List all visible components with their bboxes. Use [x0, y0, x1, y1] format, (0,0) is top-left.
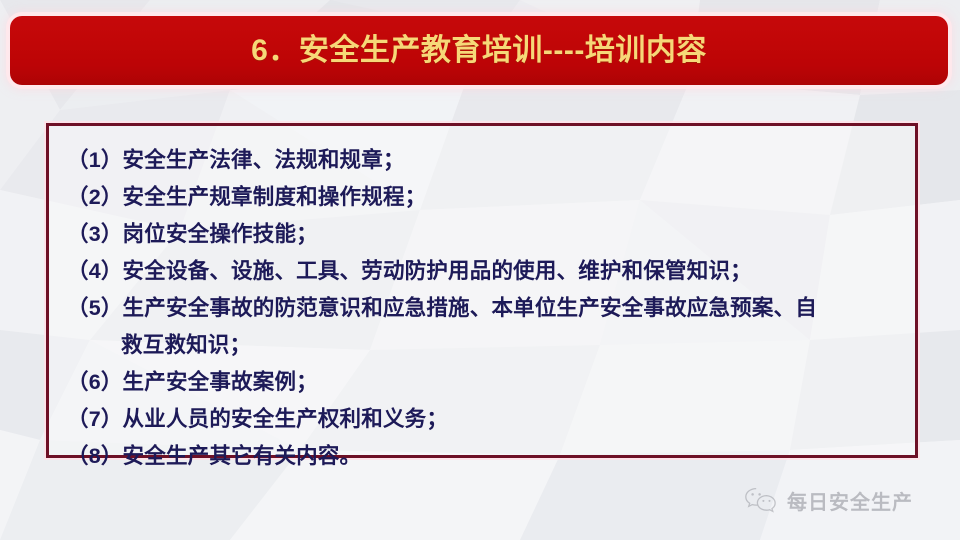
slide-title-banner: 6．安全生产教育培训----培训内容	[10, 16, 948, 85]
list-item-text: （1）安全生产法律、法规和规章；	[67, 148, 405, 172]
list-item-text: （6）生产安全事故案例；	[67, 370, 318, 394]
list-item-text: （2）安全生产规章制度和操作规程；	[67, 185, 426, 209]
list-item-text: （8）安全生产其它有关内容。	[67, 444, 361, 468]
list-item: （3）岗位安全操作技能；	[67, 216, 897, 253]
slide-canvas: 6．安全生产教育培训----培训内容 （1）安全生产法律、法规和规章； （2）安…	[0, 0, 960, 540]
wechat-watermark: 每日安全生产	[744, 486, 913, 515]
list-item-continuation: 救互救知识；	[67, 327, 897, 364]
wechat-icon	[744, 487, 778, 514]
list-item: （2）安全生产规章制度和操作规程；	[67, 179, 897, 216]
list-item-text: （3）岗位安全操作技能；	[67, 222, 318, 246]
wechat-watermark-label: 每日安全生产	[787, 486, 913, 515]
content-box: （1）安全生产法律、法规和规章； （2）安全生产规章制度和操作规程； （3）岗位…	[46, 123, 918, 458]
list-item: （6）生产安全事故案例；	[67, 364, 897, 401]
list-item-text: （4）安全设备、设施、工具、劳动防护用品的使用、维护和保管知识；	[67, 259, 752, 283]
training-content-list: （1）安全生产法律、法规和规章； （2）安全生产规章制度和操作规程； （3）岗位…	[67, 142, 897, 475]
list-item: （1）安全生产法律、法规和规章；	[67, 142, 897, 179]
list-item: （7）从业人员的安全生产权利和义务；	[67, 401, 897, 438]
list-item-text: （7）从业人员的安全生产权利和义务；	[67, 407, 448, 431]
list-item: （4）安全设备、设施、工具、劳动防护用品的使用、维护和保管知识；	[67, 253, 897, 290]
list-item: （5）生产安全事故的防范意识和应急措施、本单位生产安全事故应急预案、自 救互救知…	[67, 290, 897, 364]
page-title: 6．安全生产教育培训----培训内容	[251, 36, 707, 66]
list-item-text: （5）生产安全事故的防范意识和应急措施、本单位生产安全事故应急预案、自	[67, 296, 817, 320]
list-item: （8）安全生产其它有关内容。	[67, 438, 897, 475]
